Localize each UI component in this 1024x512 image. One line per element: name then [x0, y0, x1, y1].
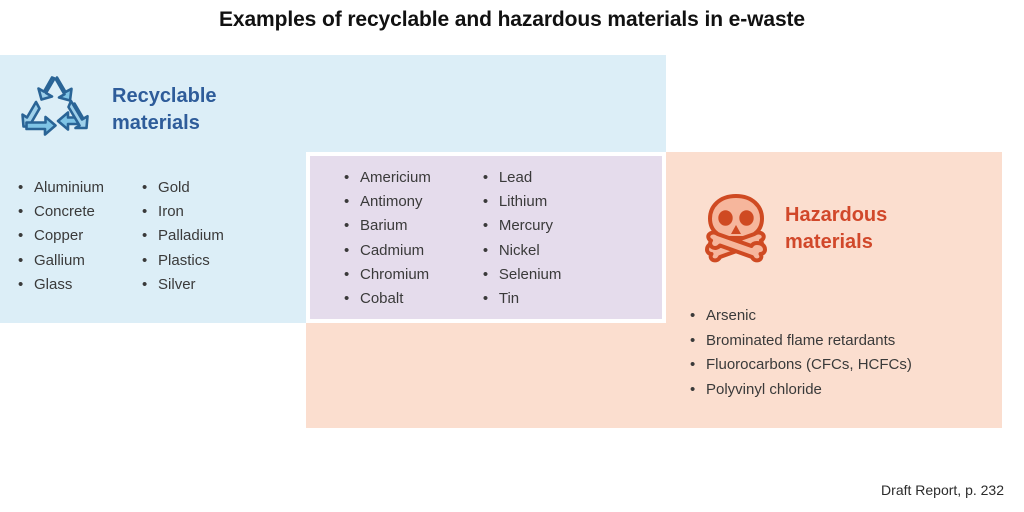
- list-item: Iron: [142, 200, 224, 224]
- hazardous-heading-group: Hazardous materials: [703, 192, 887, 264]
- list-item: Polyvinyl chloride: [690, 378, 912, 403]
- list-item: Brominated flame retardants: [690, 329, 912, 354]
- list-item: Americium: [344, 166, 431, 190]
- list-item: Glass: [18, 273, 104, 297]
- skull-and-crossbones-icon: [703, 192, 769, 264]
- list-item: Lithium: [483, 190, 562, 214]
- list-item: Nickel: [483, 239, 562, 263]
- list-item: Arsenic: [690, 304, 912, 329]
- recyclable-list-column-a: Aluminium Concrete Copper Gallium Glass: [18, 176, 104, 297]
- list-item: Chromium: [344, 263, 431, 287]
- list-item: Tin: [483, 287, 562, 311]
- overlap-list-column-a: Americium Antimony Barium Cadmium Chromi…: [344, 166, 431, 311]
- list-item: Cobalt: [344, 287, 431, 311]
- list-item: Lead: [483, 166, 562, 190]
- source-note: Draft Report, p. 232: [881, 482, 1004, 498]
- list-item: Aluminium: [18, 176, 104, 200]
- list-item: Copper: [18, 224, 104, 248]
- list-item: Concrete: [18, 200, 104, 224]
- diagram-canvas: Examples of recyclable and hazardous mat…: [0, 0, 1024, 512]
- hazardous-list: Arsenic Brominated flame retardants Fluo…: [690, 304, 912, 402]
- hazardous-materials-lists: Arsenic Brominated flame retardants Fluo…: [690, 304, 912, 402]
- overlap-list-column-b: Lead Lithium Mercury Nickel Selenium Tin: [483, 166, 562, 311]
- recycling-symbol-icon: [16, 72, 94, 138]
- page-title: Examples of recyclable and hazardous mat…: [0, 8, 1024, 32]
- list-item: Gold: [142, 176, 224, 200]
- recyclable-list-column-b: Gold Iron Palladium Plastics Silver: [142, 176, 224, 297]
- list-item: Barium: [344, 214, 431, 238]
- list-item: Silver: [142, 273, 224, 297]
- recyclable-materials-lists: Aluminium Concrete Copper Gallium Glass …: [18, 176, 224, 297]
- recyclable-heading-group: Recyclable materials: [16, 72, 217, 138]
- recyclable-heading-label: Recyclable materials: [112, 83, 217, 137]
- list-item: Gallium: [18, 249, 104, 273]
- list-item: Fluorocarbons (CFCs, HCFCs): [690, 353, 912, 378]
- hazardous-heading-label: Hazardous materials: [785, 202, 887, 256]
- list-item: Selenium: [483, 263, 562, 287]
- list-item: Palladium: [142, 224, 224, 248]
- list-item: Antimony: [344, 190, 431, 214]
- list-item: Cadmium: [344, 239, 431, 263]
- overlap-materials-lists: Americium Antimony Barium Cadmium Chromi…: [344, 166, 561, 311]
- list-item: Mercury: [483, 214, 562, 238]
- list-item: Plastics: [142, 249, 224, 273]
